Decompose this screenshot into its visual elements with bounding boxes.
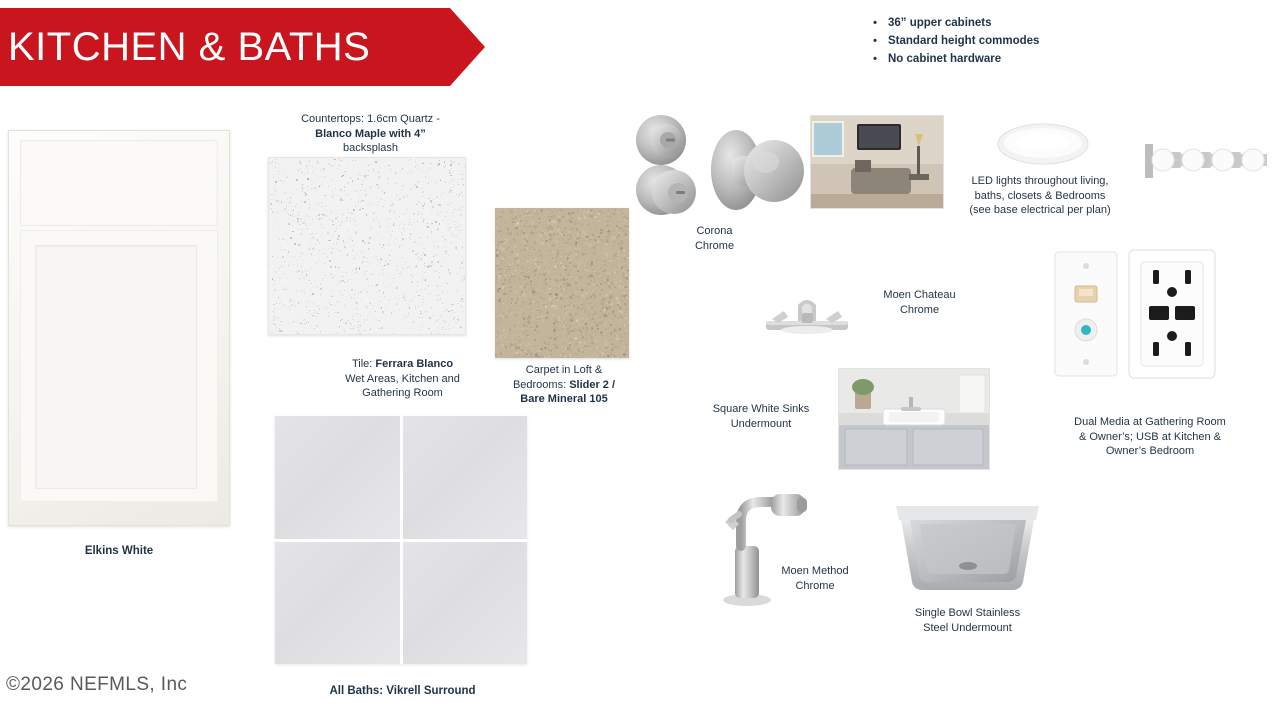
carpet-caption-prefix: Bedrooms: bbox=[513, 379, 569, 391]
tile-caption-line2: Wet Areas, Kitchen and bbox=[345, 373, 460, 385]
tile-swatch bbox=[275, 416, 527, 664]
countertop-caption-line1: Countertops: 1.6cm Quartz - bbox=[301, 113, 440, 125]
living-room-photo bbox=[810, 115, 944, 209]
list-item: • No cabinet hardware bbox=[862, 50, 1162, 68]
living-room-scene-icon bbox=[811, 116, 943, 208]
kitchen-faucet-caption: Moen Method Chrome bbox=[765, 564, 865, 593]
door-hardware-image bbox=[628, 108, 808, 220]
door-hardware-line1: Corona bbox=[696, 225, 732, 237]
list-item-label: Standard height commodes bbox=[888, 32, 1162, 50]
countertop-caption-line3: backsplash bbox=[343, 142, 398, 154]
led-downlight-icon bbox=[997, 120, 1089, 168]
electrical-outlet-icon bbox=[1053, 248, 1219, 380]
media-outlet-caption: Dual Media at Gathering Room & Owner’s; … bbox=[1055, 415, 1245, 459]
cabinet-door-sample bbox=[8, 130, 230, 526]
tile-cell bbox=[403, 542, 528, 665]
media-line3: Owner’s Bedroom bbox=[1106, 445, 1194, 457]
carpet-caption: Carpet in Loft & Bedrooms: Slider 2 / Ba… bbox=[495, 363, 633, 407]
list-item: • 36” upper cabinets bbox=[862, 14, 1162, 32]
cabinet-door-image bbox=[8, 130, 230, 526]
lav-sink-line2: Undermount bbox=[731, 418, 792, 430]
kitchen-faucet-line1: Moen Method bbox=[781, 565, 848, 577]
led-caption-line2: baths, closets & Bedrooms bbox=[975, 190, 1106, 202]
door-hardware-line2: Chrome bbox=[695, 240, 734, 252]
media-line1: Dual Media at Gathering Room bbox=[1074, 416, 1226, 428]
carpet-caption-name1: Slider 2 / bbox=[569, 379, 615, 391]
copyright-watermark: ©2026 NEFMLS, Inc bbox=[6, 674, 187, 696]
vanity-bar-light-icon bbox=[1145, 140, 1271, 182]
cabinet-drawer-front bbox=[20, 140, 218, 226]
tile-caption: Tile: Ferrara Blanco Wet Areas, Kitchen … bbox=[325, 357, 480, 401]
door-knob-icon bbox=[702, 116, 812, 228]
led-caption-line3: (see base electrical per plan) bbox=[969, 204, 1110, 216]
bullet-dot-icon: • bbox=[862, 32, 888, 50]
carpet-swatch bbox=[495, 208, 629, 358]
carpet-caption-name2: Bare Mineral 105 bbox=[520, 393, 607, 405]
kitchen-faucet-line2: Chrome bbox=[795, 580, 834, 592]
page-banner: KITCHEN & BATHS bbox=[0, 8, 450, 86]
vanity-bar-light-image bbox=[1145, 140, 1271, 182]
spec-notes-list: • 36” upper cabinets • Standard height c… bbox=[862, 14, 1162, 68]
lav-sink-caption: Square White Sinks Undermount bbox=[692, 402, 830, 431]
tile-cell bbox=[275, 542, 400, 665]
selection-sheet-canvas: KITCHEN & BATHS • 36” upper cabinets • S… bbox=[0, 0, 1280, 721]
bath-surround-caption: All Baths: Vikrell Surround bbox=[300, 684, 505, 699]
kitchen-sink-caption: Single Bowl Stainless Steel Undermount bbox=[890, 606, 1045, 635]
tile-caption-name: Ferrara Blanco bbox=[375, 358, 453, 370]
page-title: KITCHEN & BATHS bbox=[0, 25, 370, 70]
tile-caption-prefix: Tile: bbox=[352, 358, 375, 370]
vanity-sink-scene-icon bbox=[839, 369, 989, 469]
led-downlight-image bbox=[997, 120, 1089, 168]
faucet-icon bbox=[762, 283, 852, 335]
cabinet-door-recess bbox=[35, 245, 197, 489]
lav-faucet-line2: Chrome bbox=[900, 304, 939, 316]
door-hardware-caption: Corona Chrome bbox=[672, 224, 757, 253]
cabinet-caption: Elkins White bbox=[8, 544, 230, 559]
kitchen-sink-image bbox=[890, 500, 1045, 592]
banner-arrow-icon bbox=[450, 8, 485, 86]
lav-sink-line1: Square White Sinks bbox=[713, 403, 810, 415]
vanity-sink-photo bbox=[838, 368, 990, 470]
stainless-sink-icon bbox=[890, 500, 1045, 592]
tile-cell bbox=[275, 416, 400, 539]
kitchen-sink-line1: Single Bowl Stainless bbox=[915, 607, 1020, 619]
carpet-caption-line1: Carpet in Loft & bbox=[526, 364, 602, 376]
tile-caption-line3: Gathering Room bbox=[362, 387, 443, 399]
list-item: • Standard height commodes bbox=[862, 32, 1162, 50]
kitchen-sink-line2: Steel Undermount bbox=[923, 622, 1012, 634]
countertop-caption: Countertops: 1.6cm Quartz - Blanco Maple… bbox=[278, 112, 463, 156]
led-caption-line1: LED lights throughout living, bbox=[972, 175, 1109, 187]
lav-faucet-line1: Moen Chateau bbox=[883, 289, 955, 301]
led-caption: LED lights throughout living, baths, clo… bbox=[955, 174, 1125, 218]
media-outlet-image bbox=[1053, 248, 1219, 380]
media-line2: & Owner’s; USB at Kitchen & bbox=[1079, 431, 1221, 443]
countertop-caption-line2: Blanco Maple with 4” bbox=[315, 128, 426, 140]
tile-cell bbox=[403, 416, 528, 539]
cabinet-door-panel bbox=[20, 230, 218, 502]
list-item-label: 36” upper cabinets bbox=[888, 14, 1162, 32]
list-item-label: No cabinet hardware bbox=[888, 50, 1162, 68]
countertop-swatch bbox=[268, 157, 466, 335]
lav-faucet-caption: Moen Chateau Chrome bbox=[852, 288, 987, 317]
bullet-dot-icon: • bbox=[862, 14, 888, 32]
bullet-dot-icon: • bbox=[862, 50, 888, 68]
lav-faucet-image bbox=[762, 283, 852, 335]
